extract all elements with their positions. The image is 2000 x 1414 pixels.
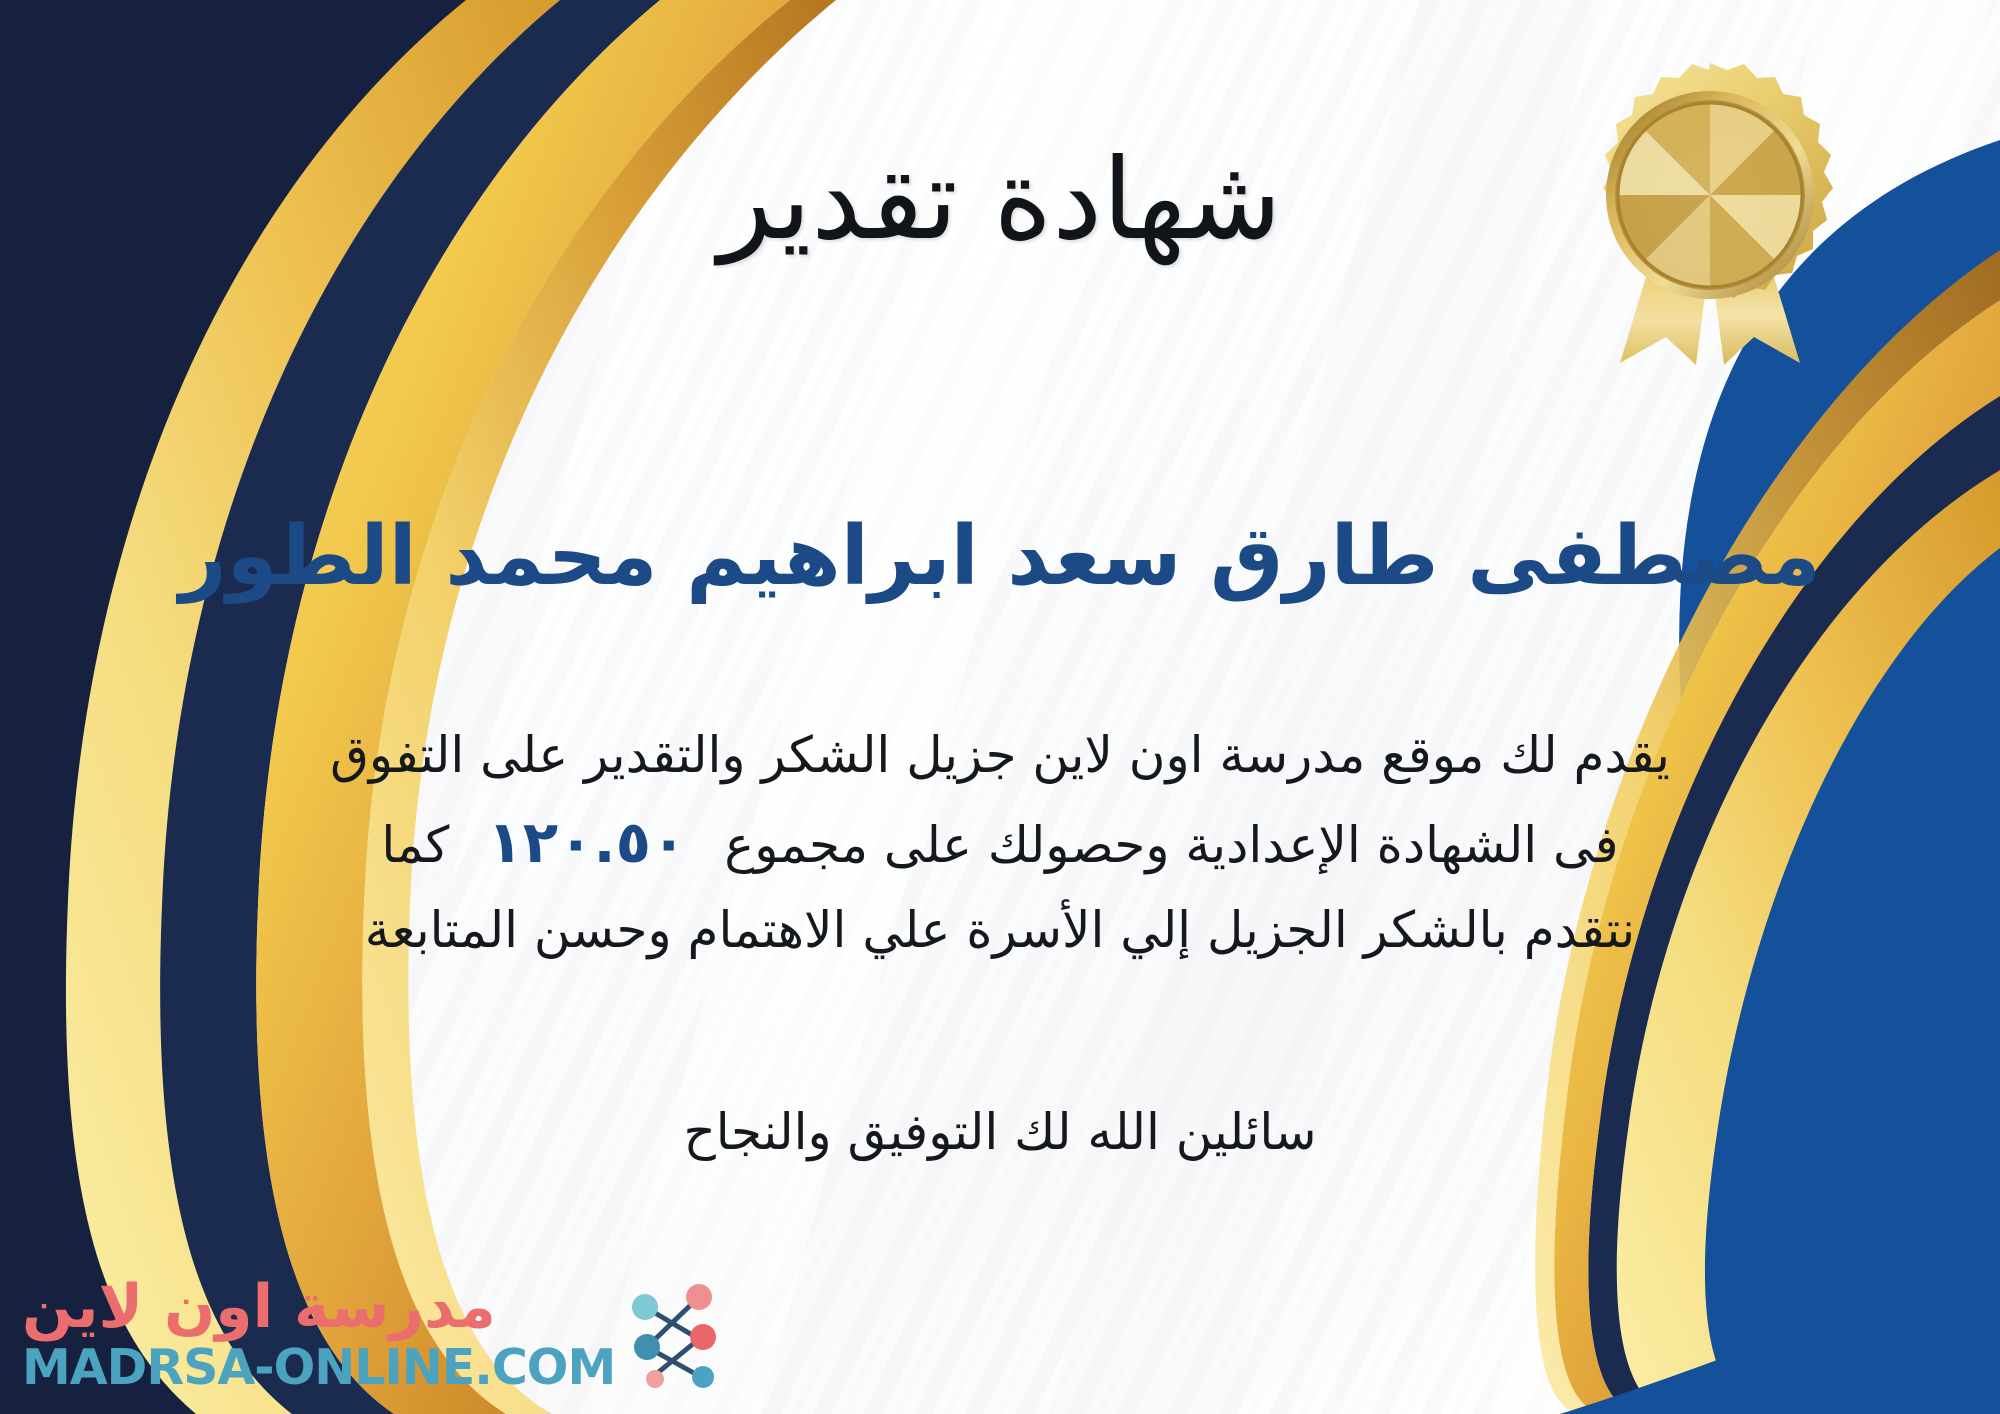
body-line-3: نتقدم بالشكر الجزيل إلي الأسرة علي الاهت… — [150, 890, 1850, 971]
logo-arabic-name: مدرسة اون لاين — [22, 1277, 496, 1337]
logo-website-url: MADRSA-ONLINE.COM — [22, 1343, 615, 1392]
certificate-content: شهادة تقدير مصطفى طارق سعد ابراهيم محمد … — [0, 0, 2000, 1414]
certificate-page: شهادة تقدير مصطفى طارق سعد ابراهيم محمد … — [0, 0, 2000, 1414]
certificate-body: يقدم لك موقع مدرسة اون لاين جزيل الشكر و… — [150, 715, 1850, 971]
site-logo[interactable]: مدرسة اون لاين MADRSA-ONLINE.COM — [22, 1277, 721, 1392]
recipient-name: مصطفى طارق سعد ابراهيم محمد الطور — [90, 510, 1910, 604]
body-line-1: يقدم لك موقع مدرسة اون لاين جزيل الشكر و… — [150, 715, 1850, 796]
logo-text-group: مدرسة اون لاين MADRSA-ONLINE.COM — [22, 1277, 615, 1392]
total-score-value: ١٢٠.٥٠ — [449, 808, 724, 876]
closing-wish: سائلين الله لك التوفيق والنجاح — [0, 1095, 2000, 1170]
body-line-2: فى الشهادة الإعدادية وحصولك على مجموع١٢٠… — [150, 796, 1850, 890]
page-title: شهادة تقدير — [0, 140, 2000, 261]
body-line-2-suffix: كما — [381, 816, 449, 874]
network-nodes-icon — [625, 1281, 721, 1389]
body-line-2-prefix: فى الشهادة الإعدادية وحصولك على مجموع — [724, 816, 1618, 874]
